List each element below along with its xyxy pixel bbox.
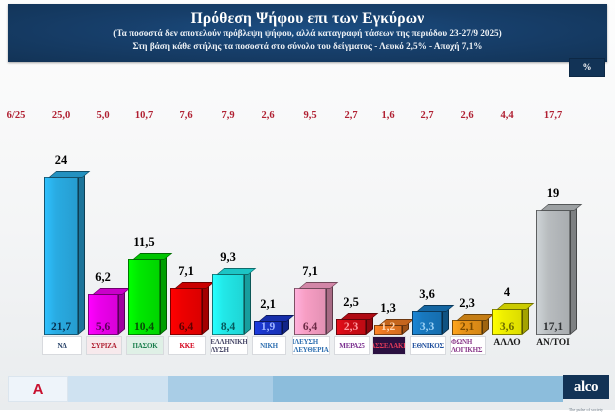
footer-band-2 (168, 376, 273, 402)
previous-period-value: 2,7 (406, 110, 448, 121)
previous-period-value: 5,0 (82, 110, 124, 121)
slide-footer: A alco The pulse of society (0, 376, 615, 404)
previous-period-value: 2,6 (446, 110, 488, 121)
bar-column[interactable]: 2421,7 (44, 168, 86, 335)
bar-value-label-top: 9,3 (208, 250, 248, 265)
bar-value-label-inner: 10,4 (128, 321, 160, 333)
bar-value-label-inner: 21,7 (44, 321, 78, 333)
category-label-other: ΑΛΛΟ (486, 338, 528, 348)
bar-value-label-inner: 8,4 (212, 321, 244, 333)
bar-side-face (570, 204, 577, 335)
page-title: Πρόθεση Ψήφου επι των Εγκύρων (8, 10, 607, 27)
previous-period-value: 17,7 (530, 110, 576, 121)
party-logo[interactable]: ΕΛΛΗΝΙΚΗ ΛΥΣΗ (210, 336, 248, 355)
bar-value-label-top: 1,3 (370, 301, 406, 316)
bar-value-label-inner: 17,1 (536, 321, 570, 333)
footer-band-3 (273, 376, 563, 402)
bar-column[interactable]: 1917,1 (536, 201, 578, 335)
party-logo[interactable]: ΜΕΡΑ25 (334, 336, 370, 355)
category-label-undecided: ΑΝ/ΤΟΙ (530, 338, 576, 348)
bar-side-face (202, 282, 209, 335)
bar-column[interactable]: 2,32,1 (452, 311, 490, 335)
previous-period-value: 9,5 (288, 110, 332, 121)
previous-period-value: 7,9 (206, 110, 250, 121)
previous-period-value: 1,6 (368, 110, 408, 121)
previous-period-value: 7,6 (164, 110, 208, 121)
bar-value-label-inner: 5,6 (88, 321, 118, 333)
party-logo-text: ΕΛΛΗΝΙΚΗ ΛΥΣΗ (210, 338, 247, 354)
bar-value-label-top: 11,5 (124, 235, 164, 250)
party-logo-text: ΝΔ (57, 342, 66, 350)
party-logo[interactable]: ΚΚΕ (168, 336, 206, 355)
party-logo-text: ΠΑΣΟΚ (133, 342, 158, 350)
bar-column[interactable]: 9,38,4 (212, 265, 252, 335)
bar-column[interactable]: 2,11,9 (254, 312, 290, 335)
party-logo[interactable]: ΣΥΡΙΖΑ (86, 336, 122, 355)
party-logo[interactable]: ΦΩΝΗ ΛΟΓΙΚΗΣ (450, 336, 486, 355)
previous-period-values-row: 6/2525,05,010,77,67,92,69,52,71,62,72,64… (0, 110, 615, 132)
bar-value-label-inner: 6,4 (170, 321, 202, 333)
party-logo-text: ΕΘΝΙΚΟΣ (412, 342, 444, 350)
bar-column[interactable]: 6,25,6 (88, 285, 126, 335)
bar-value-label-inner: 3,3 (412, 321, 442, 333)
slide-header: Πρόθεση Ψήφου επι των Εγκύρων (Τα ποσοστ… (8, 4, 607, 62)
party-logo[interactable]: ΕΘΝΙΚΟΣ (410, 336, 446, 355)
bar-value-label-top: 6,2 (84, 270, 122, 285)
previous-period-value: 25,0 (38, 110, 84, 121)
party-logo[interactable]: ΝΙΚΗ (252, 336, 286, 355)
bar-column[interactable]: 43,6 (492, 300, 530, 335)
bar-value-label-top: 2,1 (250, 297, 286, 312)
bar-side-face (78, 171, 85, 335)
previous-period-value: 2,6 (248, 110, 288, 121)
bar-value-label-inner: 2,1 (452, 321, 482, 333)
subtitle-line-2: Στη βάση κάθε στήλης τα ποσοστά στο σύνο… (8, 41, 607, 53)
bar-value-label-top: 2,5 (332, 295, 370, 310)
party-logo-text: ΚΚΕ (180, 342, 195, 350)
bar-column[interactable]: 7,16,4 (170, 279, 210, 335)
previous-period-value: 2,7 (330, 110, 372, 121)
bar-front-face (536, 210, 570, 335)
bar-value-label-top: 3,6 (408, 287, 446, 302)
party-logo-text: ΝΙΚΗ (260, 342, 278, 350)
alco-brand-logo: alco (563, 375, 609, 399)
bar-column[interactable]: 7,16,4 (294, 279, 334, 335)
bar-value-label-top: 7,1 (290, 264, 330, 279)
party-logo-text: ΠΛΕΥΣΗ ΕΛΕΥΘΕΡΙΑΣ (292, 338, 330, 354)
previous-period-value: 4,4 (486, 110, 528, 121)
bar-column[interactable]: 1,31,2 (374, 316, 410, 335)
previous-period-date-label: 6/25 (0, 110, 36, 121)
bar-value-label-inner: 1,2 (374, 321, 402, 333)
party-logo-text: ΦΩΝΗ ΛΟΓΙΚΗΣ (451, 338, 485, 354)
bar-column[interactable]: 3,63,3 (412, 302, 450, 335)
bar-front-face (44, 177, 78, 335)
bar-value-label-top: 19 (532, 186, 574, 201)
bar-value-label-inner: 2,3 (336, 321, 366, 333)
poll-chart-slide: Πρόθεση Ψήφου επι των Εγκύρων (Τα ποσοστ… (0, 0, 615, 410)
footer-band-1 (68, 376, 168, 402)
party-logo-strip: ΝΔΣΥΡΙΖΑΠΑΣΟΚΚΚΕΕΛΛΗΝΙΚΗ ΛΥΣΗΝΙΚΗΠΛΕΥΣΗ … (0, 336, 615, 358)
bar-value-label-inner: 1,9 (254, 321, 282, 333)
bar-value-label-top: 2,3 (448, 296, 486, 311)
percent-unit-badge: % (569, 58, 605, 77)
bar-value-label-top: 24 (40, 153, 82, 168)
party-logo[interactable]: ΝΔ (42, 336, 82, 355)
party-logo-text: ΣΥΡΙΖΑ (91, 342, 116, 350)
bar-3d-body (536, 210, 570, 335)
bar-3d-body (44, 177, 78, 335)
bar-value-label-top: 4 (488, 285, 526, 300)
party-logo-text: ΚΑΣΣΕΛΑΚΗΣ (372, 342, 406, 350)
bar-value-label-inner: 3,6 (492, 321, 522, 333)
bar-column[interactable]: 11,510,4 (128, 250, 168, 335)
bar-side-face (118, 288, 125, 335)
bar-value-label-inner: 6,4 (294, 321, 326, 333)
party-logo-text: ΜΕΡΑ25 (339, 342, 364, 350)
previous-period-value: 10,7 (122, 110, 166, 121)
subtitle-line-1: (Τα ποσοστά δεν αποτελούν πρόβλεψη ψήφου… (8, 28, 607, 40)
party-logo[interactable]: ΚΑΣΣΕΛΑΚΗΣ (372, 336, 406, 355)
party-logo[interactable]: ΠΑΣΟΚ (126, 336, 164, 355)
footer-logo-box: A (8, 376, 68, 402)
bar-value-label-top: 7,1 (166, 264, 206, 279)
bar-plot-area: 2421,76,25,611,510,47,16,49,38,42,11,97,… (0, 150, 615, 335)
bar-column[interactable]: 2,52,3 (336, 310, 374, 335)
party-logo[interactable]: ΠΛΕΥΣΗ ΕΛΕΥΘΕΡΙΑΣ (292, 336, 330, 355)
alpha-tv-icon: A (33, 383, 44, 396)
